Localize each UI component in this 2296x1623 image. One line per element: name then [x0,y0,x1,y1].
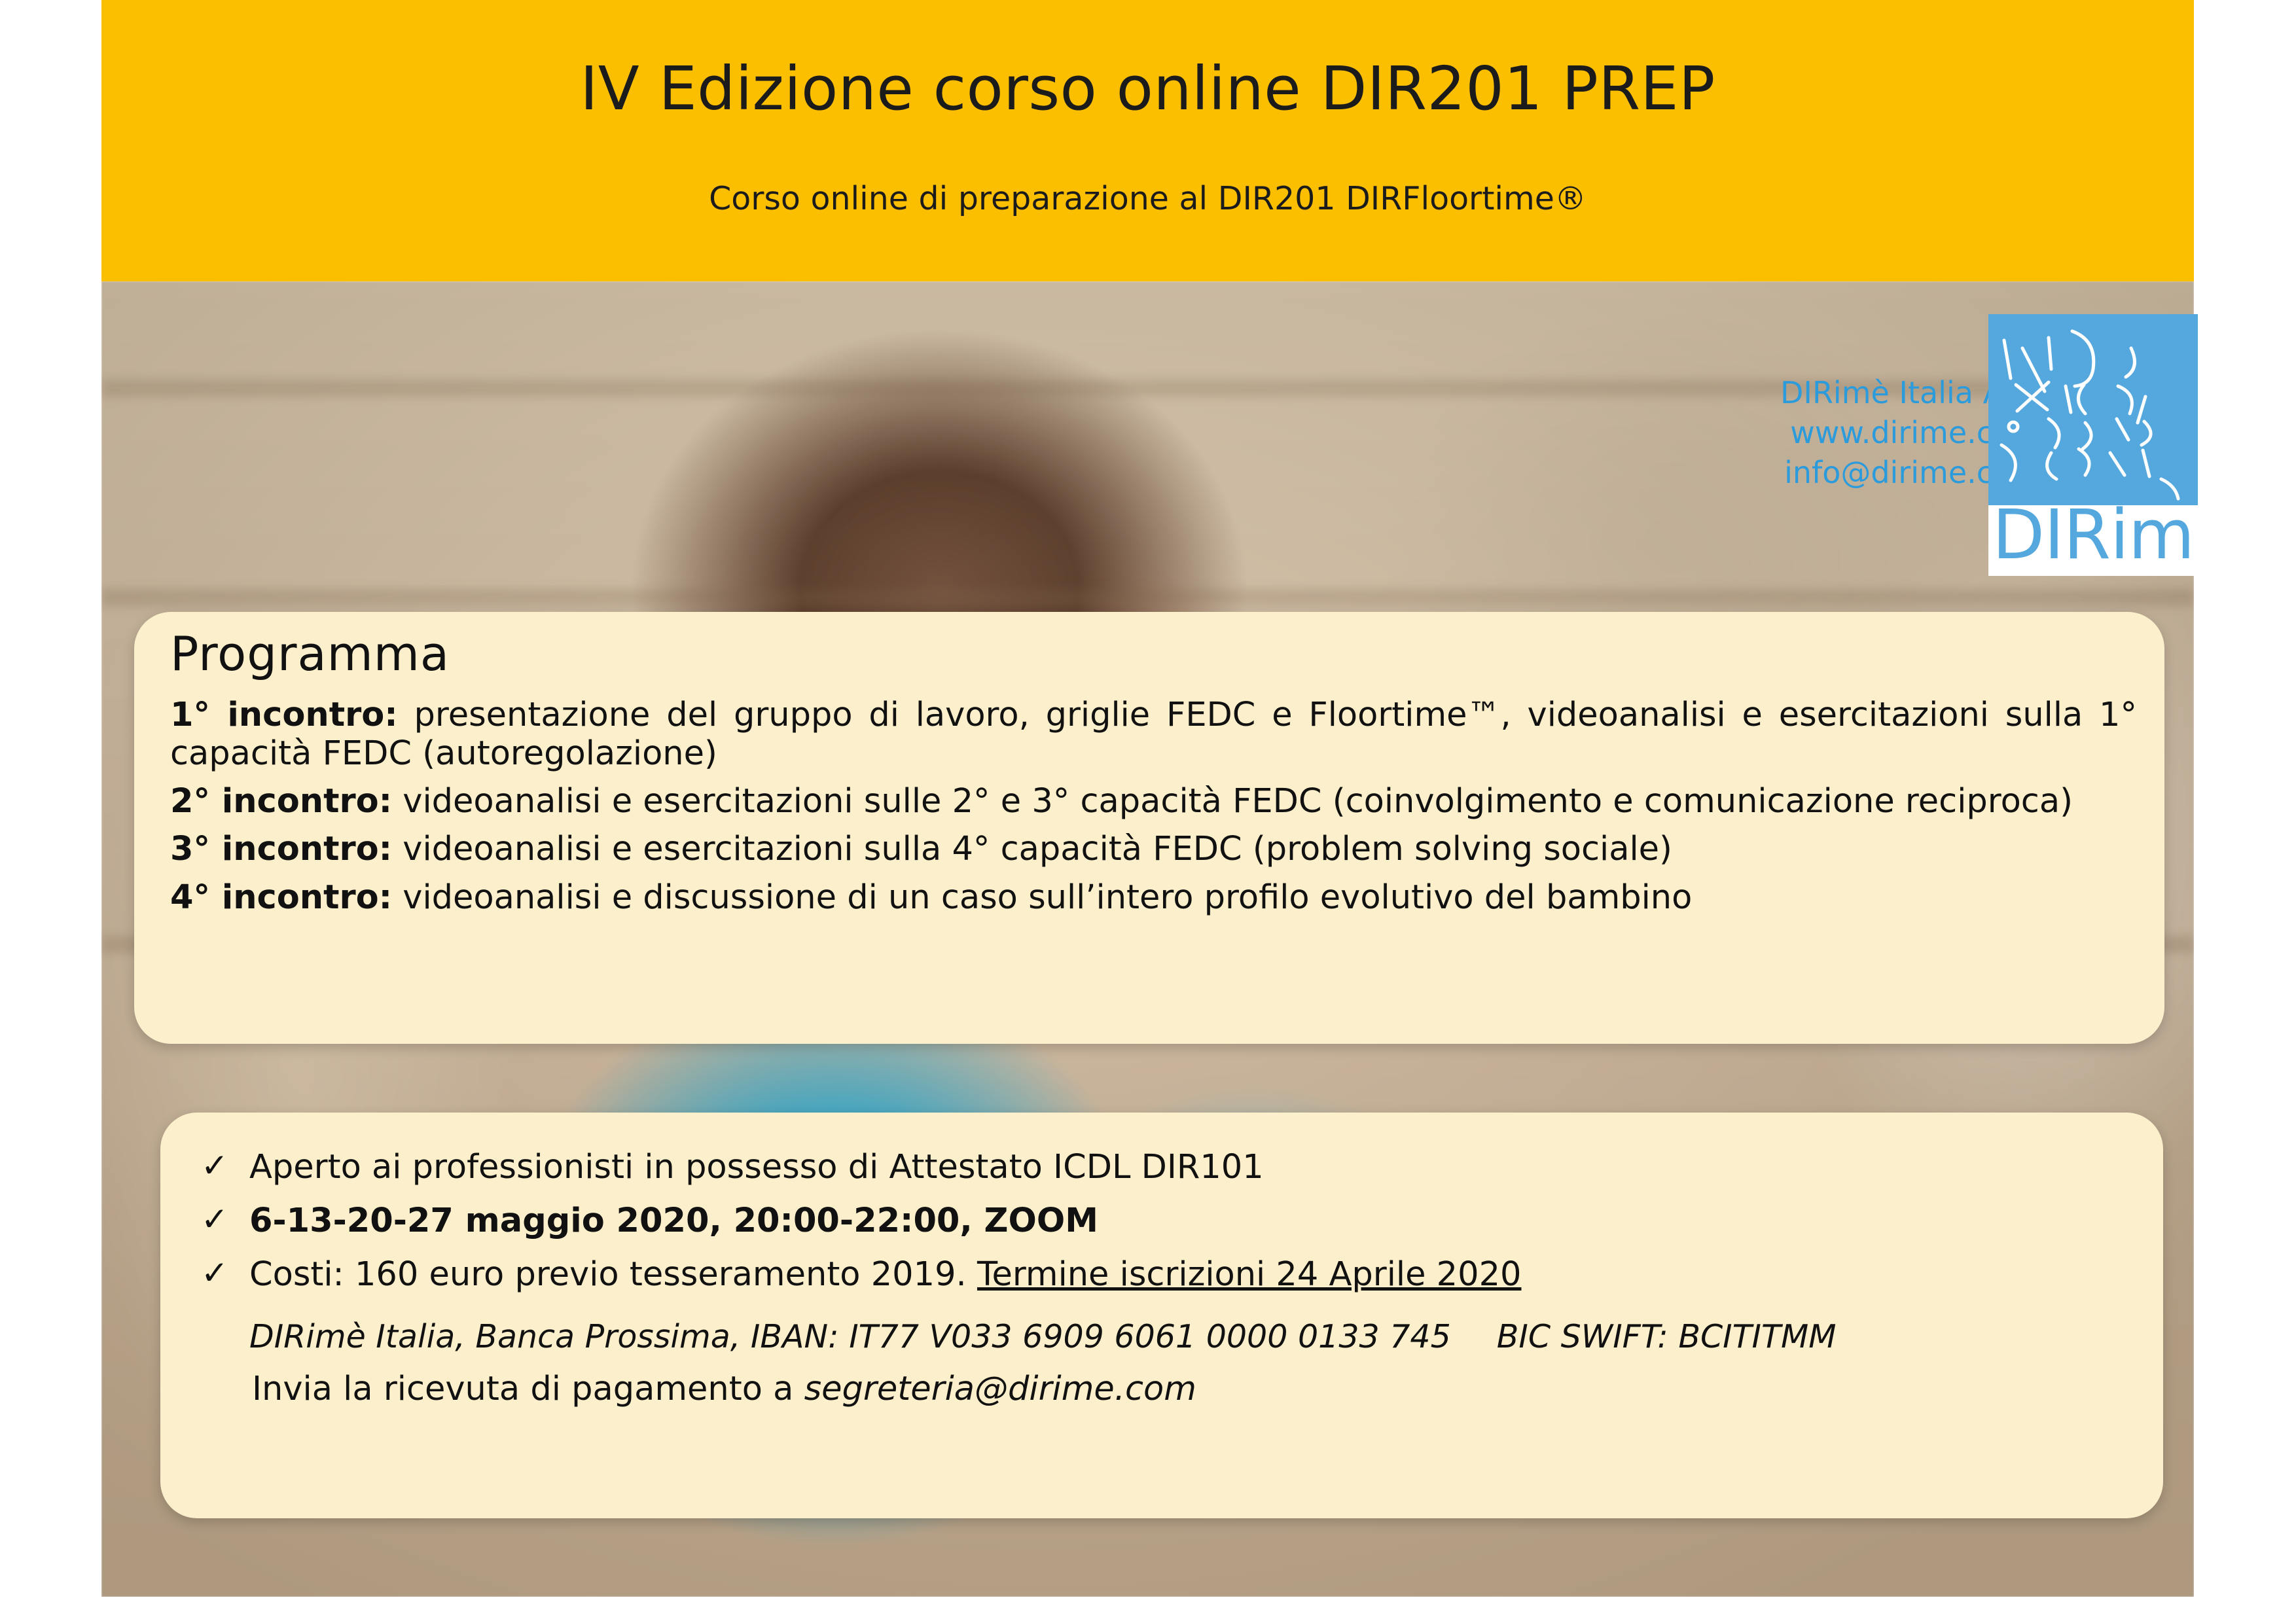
logo-glyph-panel [1988,314,2198,505]
receipt-row: Invia la ricevuta di pagamento a segrete… [192,1370,2137,1408]
page-title: IV Edizione corso online DIR201 PREP [101,54,2194,124]
programma-item: 1° incontro: presentazione del gruppo di… [170,696,2137,773]
list-item: ✓ 6-13-20-27 maggio 2020, 20:00-22:00, Z… [192,1203,2137,1240]
info-card: ✓ Aperto ai professionisti in possesso d… [160,1113,2163,1518]
info-schedule-text: 6-13-20-27 maggio 2020, 20:00-22:00, ZOO… [249,1203,1098,1240]
receipt-email[interactable]: segreteria@dirime.com [804,1370,1196,1408]
page-subtitle: Corso online di preparazione al DIR201 D… [101,180,2194,217]
bank-bic-text: BIC SWIFT: BCITITMM [1497,1318,1837,1355]
logo-wordmark-panel: DIRimè [1988,505,2198,576]
check-icon: ✓ [192,1149,249,1182]
programma-item-text: videoanalisi e esercitazioni sulla 4° ca… [392,830,1672,868]
dirime-logo: DIRimè [1988,314,2198,576]
list-item: ✓ Aperto ai professionisti in possesso d… [192,1149,2137,1186]
bank-iban-text: DIRimè Italia, Banca Prossima, IBAN: IT7… [249,1318,1451,1355]
programma-heading: Programma [170,626,450,681]
check-icon: ✓ [192,1203,249,1236]
programma-item-lead: 4° incontro: [170,878,392,917]
receipt-instruction: Invia la ricevuta di pagamento a segrete… [252,1370,1196,1408]
info-cost-prefix: Costi: 160 euro previo tesseramento 2019… [249,1255,977,1294]
programma-item-lead: 1° incontro: [170,696,398,734]
logo-scribble-icon [1988,314,2198,505]
header-banner: IV Edizione corso online DIR201 PREP Cor… [101,0,2194,281]
programma-card: Programma 1° incontro: presentazione del… [134,612,2164,1044]
programma-item-text: videoanalisi e discussione di un caso su… [392,878,1692,917]
receipt-prefix: Invia la ricevuta di pagamento a [252,1370,804,1408]
programma-item-text: videoanalisi e esercitazioni sulle 2° e … [392,782,2073,821]
programma-item: 4° incontro: videoanalisi e discussione … [170,878,2137,917]
bank-details-row: DIRimè Italia, Banca Prossima, IBAN: IT7… [192,1318,2137,1355]
info-check-list: ✓ Aperto ai professionisti in possesso d… [192,1149,2137,1408]
info-deadline: Termine iscrizioni 24 Aprile 2020 [977,1255,1522,1294]
logo-wordmark: DIRimè [1992,505,2198,575]
programma-list: 1° incontro: presentazione del gruppo di… [170,696,2137,926]
check-icon: ✓ [192,1257,249,1289]
programma-item-lead: 3° incontro: [170,830,392,868]
poster-root: IV Edizione corso online DIR201 PREP Cor… [0,0,2296,1623]
list-item: ✓ Costi: 160 euro previo tesseramento 20… [192,1257,2137,1293]
info-cost-text: Costi: 160 euro previo tesseramento 2019… [249,1257,1521,1293]
programma-item-lead: 2° incontro: [170,782,392,821]
programma-item: 2° incontro: videoanalisi e esercitazion… [170,782,2137,821]
info-requirement-text: Aperto ai professionisti in possesso di … [249,1149,1264,1186]
programma-item-text: presentazione del gruppo di lavoro, grig… [170,696,2137,773]
programma-item: 3° incontro: videoanalisi e esercitazion… [170,830,2137,868]
